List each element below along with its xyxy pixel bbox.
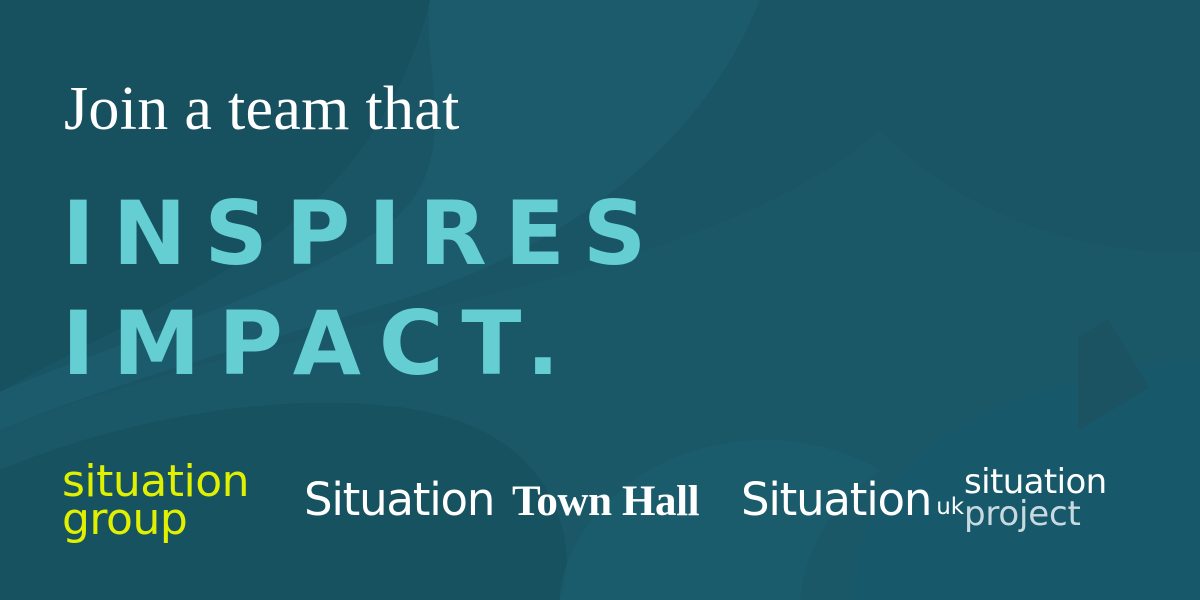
logo-situation-uk-suffix: uk <box>936 494 964 520</box>
headline-line-impact: IMPACT. <box>62 300 578 388</box>
logo-situation-project-line2: project <box>964 498 1107 530</box>
logo-situation-uk[interactable]: Situationuk <box>741 477 964 522</box>
banner-content: Join a team that INSPIRES IMPACT. situat… <box>0 0 1200 600</box>
logo-situation[interactable]: Situation <box>304 477 494 522</box>
logo-town-hall-label: Town Hall <box>512 478 699 525</box>
headline-line-inspires: INSPIRES <box>62 190 664 278</box>
logo-situation-uk-label: Situation <box>741 473 931 526</box>
recruitment-banner: Join a team that INSPIRES IMPACT. situat… <box>0 0 1200 600</box>
logo-situation-group[interactable]: situation group <box>62 463 249 539</box>
logo-row: situation group Situation Town Hall Situ… <box>0 455 1200 565</box>
logo-situation-label: Situation <box>304 473 494 526</box>
headline-eyebrow: Join a team that <box>64 78 460 140</box>
logo-situation-project[interactable]: situation project <box>964 466 1107 531</box>
logo-town-hall[interactable]: Town Hall <box>512 480 699 523</box>
